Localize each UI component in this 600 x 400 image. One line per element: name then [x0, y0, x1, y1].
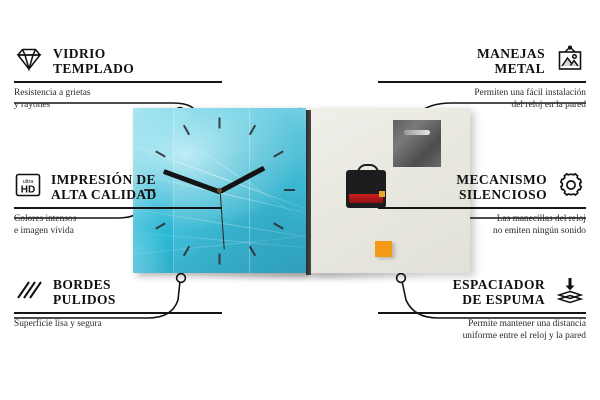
feature-espaciador-de-espuma: ESPACIADOR DE ESPUMA Permite mantener un… — [378, 275, 586, 342]
feature-divider — [14, 81, 222, 83]
feature-title-line-1: MANEJAS — [477, 46, 545, 61]
feature-divider — [378, 207, 586, 209]
feature-bordes-pulidos: BORDES PULIDOS Superficie lisa y segura — [14, 275, 222, 330]
feature-divider — [378, 312, 586, 314]
feature-desc-line-1: Permiten una fácil instalación — [378, 87, 586, 99]
feature-title-line-2: SILENCIOSO — [456, 187, 547, 202]
feature-desc-line-2: y rayones — [14, 99, 222, 111]
feature-desc-line-1: Las manecillas del reloj — [378, 213, 586, 225]
feature-title-line-2: PULIDOS — [53, 292, 116, 307]
ultra-hd-icon: ultra HD — [14, 172, 42, 203]
feature-title-line-1: IMPRESIÓN DE — [51, 172, 157, 187]
feature-desc-line-1: Permite mantener una distancia — [378, 318, 586, 330]
feature-desc-line-1: Resistencia a grietas — [14, 87, 222, 99]
feature-title-line-2: ALTA CALIDAD — [51, 187, 157, 202]
feature-desc-line-2: e imagen vívida — [14, 225, 222, 237]
feature-manejas-metal: MANEJAS METAL Permiten una fácil instala… — [378, 44, 586, 111]
arrow-layers-icon — [554, 276, 586, 309]
hanging-frame-icon — [554, 45, 586, 78]
infographic-canvas: VIDRIO TEMPLADO Resistencia a grietas y … — [0, 0, 600, 400]
diagonal-lines-icon — [14, 277, 44, 308]
feature-desc-line-1: Colores intensos — [14, 213, 222, 225]
metal-hanger-plate — [393, 120, 441, 167]
feature-title-line-2: DE ESPUMA — [453, 292, 545, 307]
gear-icon — [556, 171, 586, 204]
feature-divider — [14, 312, 222, 314]
feature-divider — [378, 81, 586, 83]
feature-mecanismo-silencioso: MECANISMO SILENCIOSO Las manecillas del … — [378, 170, 586, 237]
feature-title-line-1: VIDRIO — [53, 46, 134, 61]
feature-title-line-1: BORDES — [53, 277, 116, 292]
diamond-icon — [14, 46, 44, 77]
feature-desc-line-2: no emiten ningún sonido — [378, 225, 586, 237]
feature-divider — [14, 207, 222, 209]
feature-impresion-alta-calidad: ultra HD IMPRESIÓN DE ALTA CALIDAD Color… — [14, 170, 222, 237]
feature-title-line-1: ESPACIADOR — [453, 277, 545, 292]
feature-title-line-2: METAL — [477, 61, 545, 76]
ultra-hd-large-label: HD — [21, 184, 35, 195]
feature-title-line-2: TEMPLADO — [53, 61, 134, 76]
feature-vidrio-templado: VIDRIO TEMPLADO Resistencia a grietas y … — [14, 44, 222, 111]
feature-desc-line-2: uniforme entre el reloj y la pared — [378, 330, 586, 342]
foam-spacer — [375, 241, 392, 257]
feature-desc-line-2: del reloj en la pared — [378, 99, 586, 111]
feature-desc-line-1: Superficie lisa y segura — [14, 318, 222, 330]
feature-title-line-1: MECANISMO — [456, 172, 547, 187]
